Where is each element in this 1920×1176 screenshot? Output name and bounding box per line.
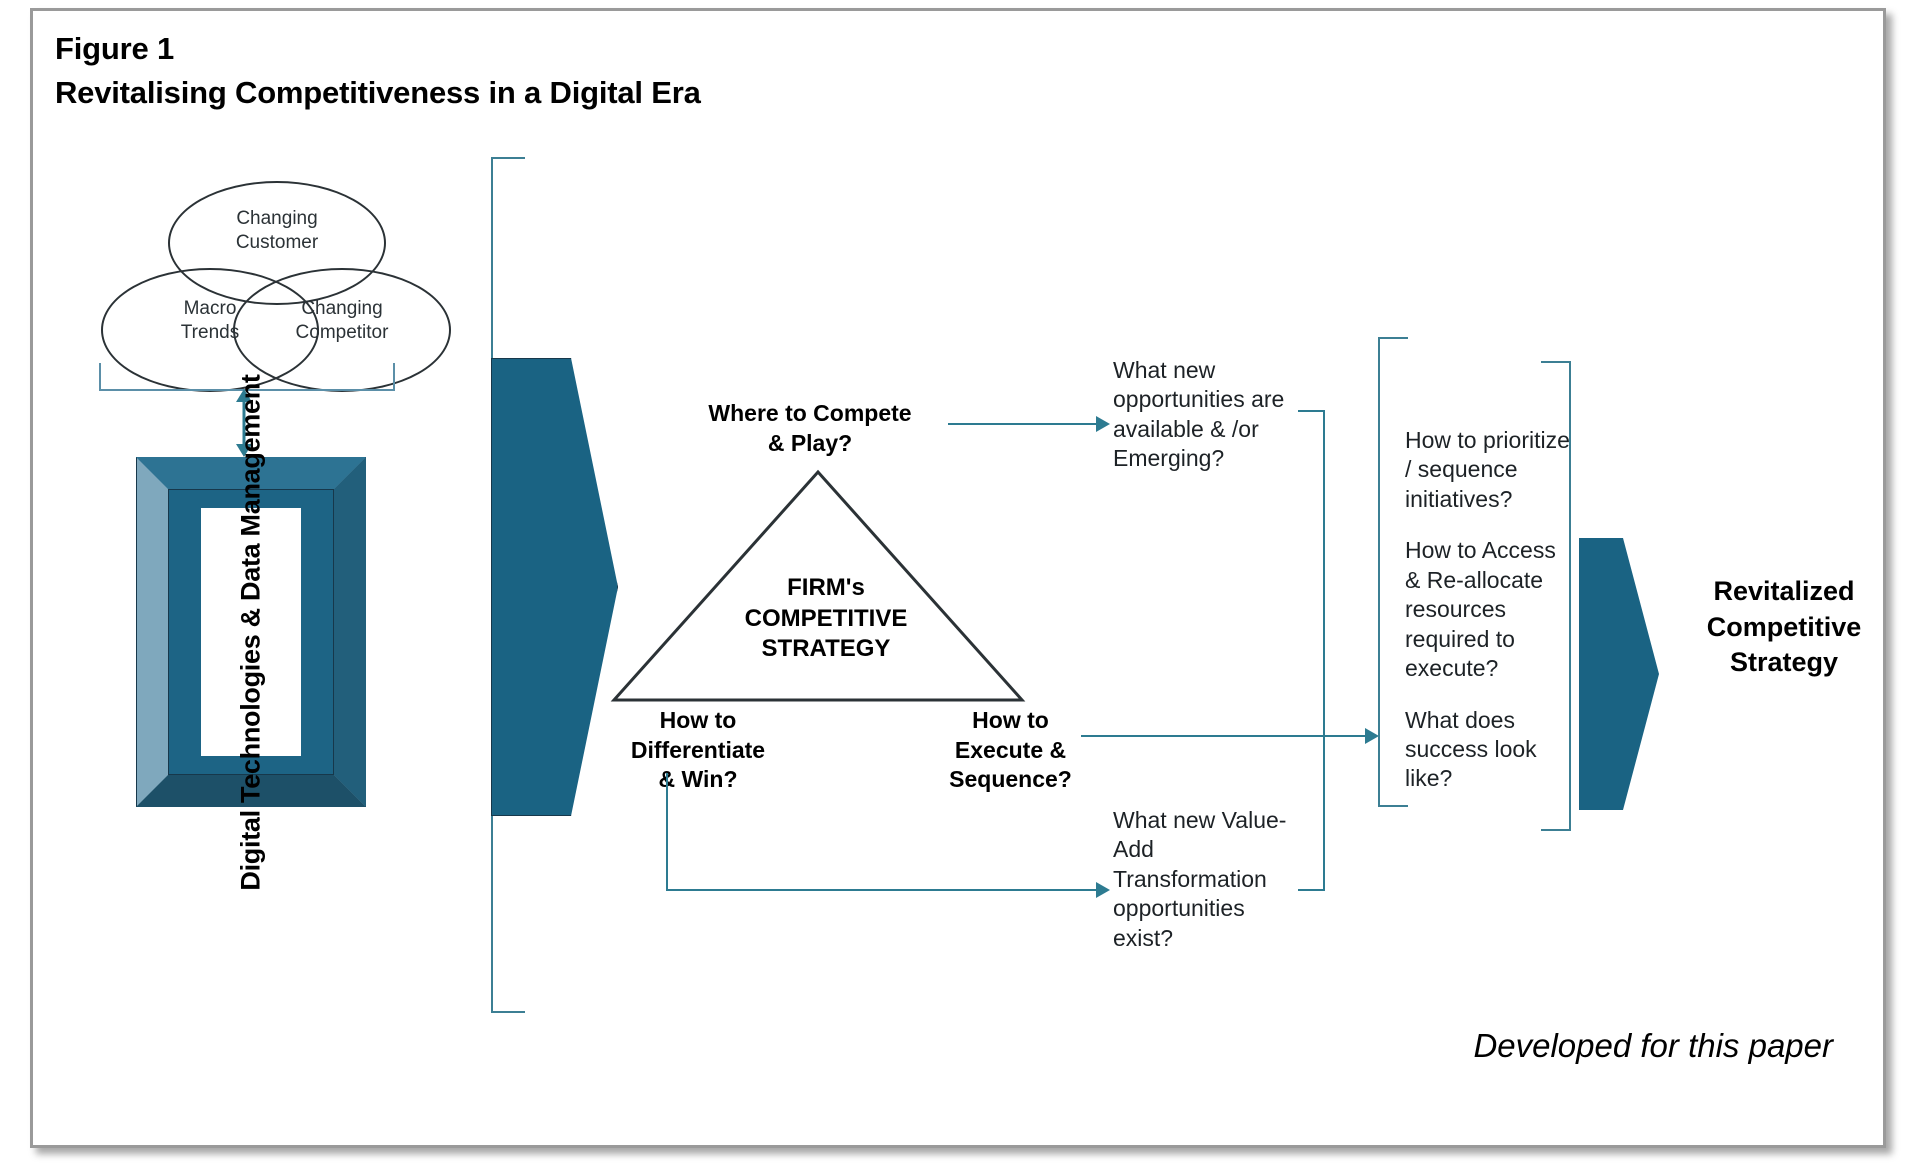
figure-page: Figure 1 Revitalising Competitiveness in…	[0, 0, 1920, 1176]
triangle-center-label: FIRM's COMPETITIVE STRATEGY	[736, 573, 916, 665]
figure-title: Revitalising Competitiveness in a Digita…	[55, 71, 701, 115]
connector-differentiate-down	[666, 773, 668, 890]
question-block-value-add: What new Value-Add Transformation opport…	[1113, 806, 1298, 953]
right-chevron-arrow	[1579, 538, 1659, 810]
venn-label-changing-customer: Changing Customer	[202, 207, 352, 255]
connector-execute-to-right-bracket	[1081, 735, 1377, 737]
connector-differentiate-to-valueadd	[666, 889, 1098, 891]
triangle-corner-how-to-execute: How to Execute & Sequence?	[903, 706, 1118, 795]
question-block-opportunities: What new opportunities are available & /…	[1113, 356, 1288, 474]
arrowhead-right-bracket	[1365, 728, 1379, 744]
execution-bracket-close	[1541, 361, 1571, 831]
triangle-corner-where-to-compete: Where to Compete & Play?	[685, 399, 935, 458]
venn-label-changing-competitor: Changing Competitor	[267, 297, 417, 345]
arrowhead-compete	[1096, 416, 1110, 432]
revitalized-strategy-label: Revitalized Competitive Strategy	[1669, 574, 1899, 681]
triangle-corner-how-to-differentiate: How to Differentiate & Win?	[593, 706, 803, 795]
connector-top-block-stub	[1298, 410, 1325, 412]
source-note: Developed for this paper	[1473, 1027, 1833, 1065]
digital-technologies-label: Digital Technologies & Data Management	[236, 374, 267, 890]
venn-diagram: Changing Customer Macro Trends Changing …	[73, 181, 413, 381]
figure-frame: Figure 1 Revitalising Competitiveness in…	[30, 8, 1886, 1148]
figure-number: Figure 1	[55, 27, 701, 71]
arrowhead-valueadd	[1096, 882, 1110, 898]
execution-bracket-open	[1378, 337, 1408, 807]
box-label-panel: Digital Technologies & Data Management	[201, 508, 301, 756]
venn-label-macro-trends: Macro Trends	[135, 297, 285, 345]
connector-bottom-block-stub	[1298, 889, 1325, 891]
connector-vertical-collector	[1323, 410, 1325, 891]
digital-technologies-box: Digital Technologies & Data Management	[136, 457, 366, 807]
connector-compete-to-opportunities	[948, 423, 1098, 425]
figure-title-block: Figure 1 Revitalising Competitiveness in…	[55, 27, 701, 115]
box-inner-face: Digital Technologies & Data Management	[168, 489, 334, 775]
box-bevel-right	[334, 457, 366, 807]
